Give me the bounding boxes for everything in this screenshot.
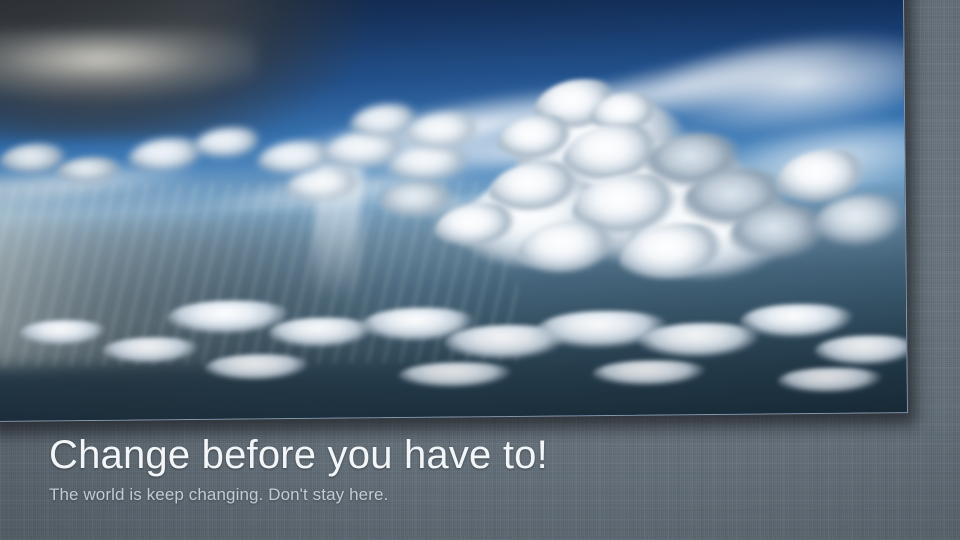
aerial-cloudscape-photo [0,0,908,422]
photo-sky-scene [0,0,907,421]
photo-tone-overlay [0,0,907,421]
slide-title: Change before you have to! [49,434,809,476]
photo-frame [0,0,908,422]
slide-canvas: Change before you have to! The world is … [0,0,960,540]
caption-block: Change before you have to! The world is … [49,434,809,505]
slide-subtitle: The world is keep changing. Don't stay h… [49,485,809,505]
